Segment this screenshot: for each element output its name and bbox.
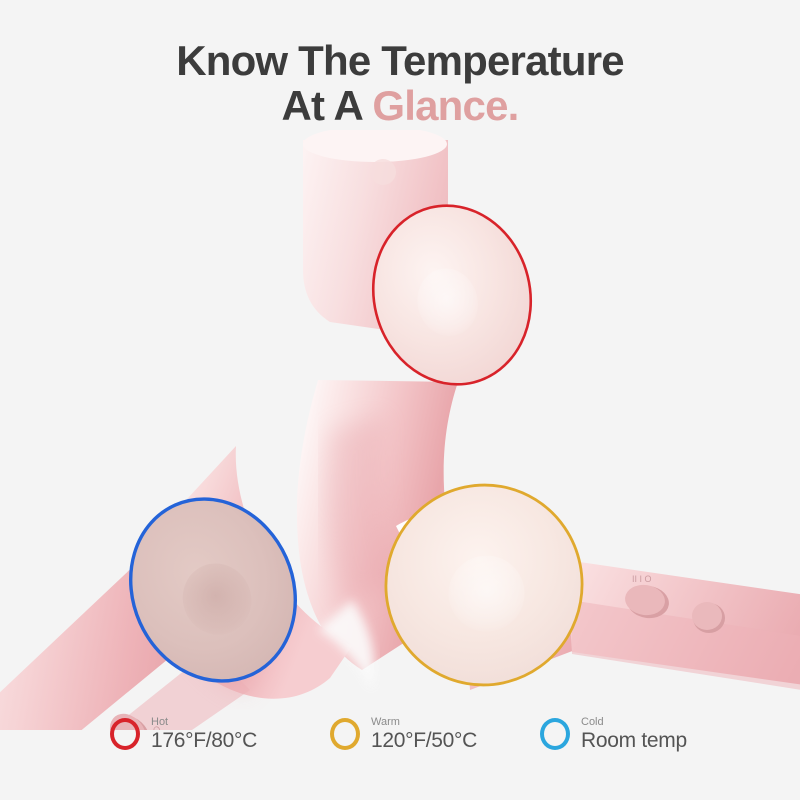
legend-item-cold: Cold Room temp (540, 716, 687, 751)
legend-label-cold: Cold (581, 716, 687, 728)
legend-text-hot: Hot 176°F/80°C (151, 716, 257, 751)
svg-text:II I O: II I O (632, 574, 652, 584)
legend-value-warm: 120°F/50°C (371, 730, 477, 752)
headline-line-2: At A Glance. (0, 83, 800, 128)
page-title: Know The Temperature At A Glance. (0, 38, 800, 129)
headline-line-2-prefix: At A (281, 82, 372, 129)
legend-ring-cold-icon (540, 718, 570, 750)
product-marketing-image: Know The Temperature At A Glance. (0, 0, 800, 800)
dryer-warm: II I O (370, 470, 800, 701)
legend-item-warm: Warm 120°F/50°C (330, 716, 477, 751)
legend-label-warm: Warm (371, 716, 477, 728)
temperature-legend: Hot 176°F/80°C Warm 120°F/50°C Cold Room… (0, 706, 800, 762)
legend-value-cold: Room temp (581, 730, 687, 752)
headline-line-1: Know The Temperature (176, 37, 624, 84)
headline-accent-word: Glance. (372, 82, 518, 129)
legend-item-hot: Hot 176°F/80°C (110, 716, 257, 751)
legend-label-hot: Hot (151, 716, 257, 728)
legend-value-hot: 176°F/80°C (151, 730, 257, 752)
legend-text-warm: Warm 120°F/50°C (371, 716, 477, 751)
legend-ring-warm-icon (330, 718, 360, 750)
legend-text-cold: Cold Room temp (581, 716, 687, 751)
product-photo: II I O (0, 130, 800, 730)
legend-ring-hot-icon (110, 718, 140, 750)
